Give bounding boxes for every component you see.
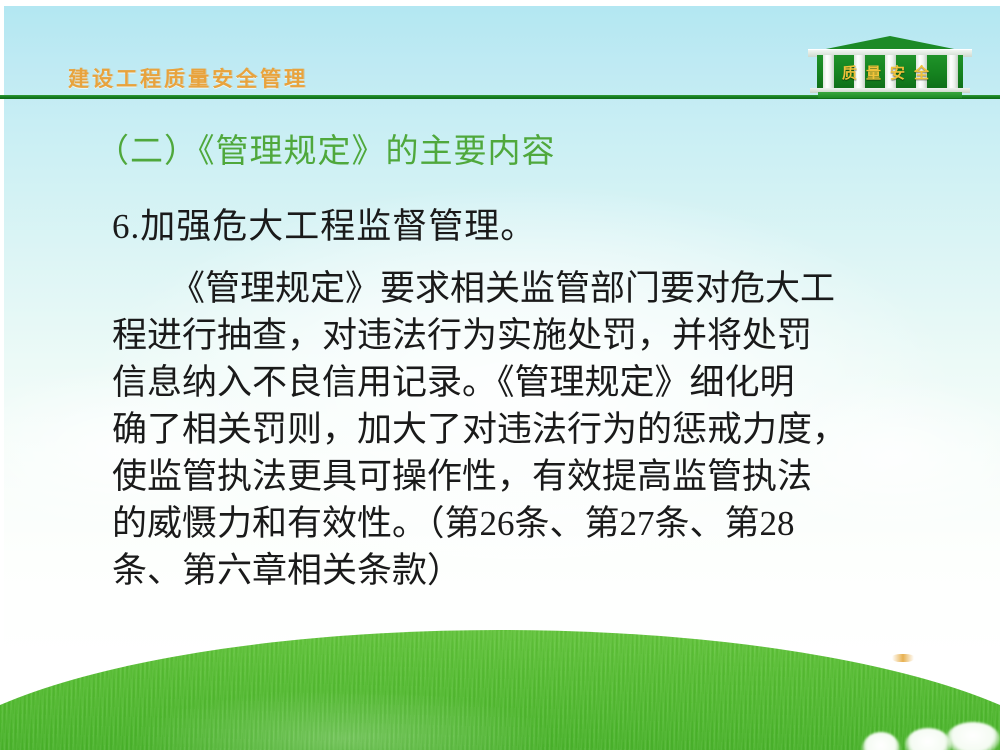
header-title: 建设工程质量安全管理 bbox=[68, 63, 308, 93]
slide-body: 6.加强危大工程监督管理。 《管理规定》要求相关监管部门要对危大工 程进行抽查，… bbox=[112, 203, 912, 594]
flower-icon bbox=[946, 722, 1000, 750]
horizon-speck-icon bbox=[892, 654, 914, 662]
presentation-slide: 建设工程质量安全管理 质量安全 （二）《管理规定》的主要内容 6.加强危大工程监… bbox=[0, 0, 1000, 750]
body-paragraph-line: 的威慑力和有效性。（第26条、第27条、第28 bbox=[112, 500, 912, 547]
body-paragraph-line: 《管理规定》要求相关监管部门要对危大工 bbox=[112, 265, 912, 312]
body-paragraph-line: 确了相关罚则，加大了对违法行为的惩戒力度， bbox=[112, 406, 912, 453]
body-paragraph-line: 程进行抽查，对违法行为实施处罚，并将处罚 bbox=[112, 312, 912, 359]
logo-base bbox=[818, 92, 962, 98]
body-paragraph-line: 条、第六章相关条款） bbox=[112, 547, 912, 594]
grass-highlight bbox=[120, 640, 680, 750]
logo-text: 质量安全 bbox=[817, 62, 963, 83]
grass-field-decoration bbox=[0, 620, 1000, 750]
body-paragraph-line: 信息纳入不良信用记录。《管理规定》细化明 bbox=[112, 359, 912, 406]
slide-header: 建设工程质量安全管理 质量安全 bbox=[0, 0, 1000, 104]
slide-section-title: （二）《管理规定》的主要内容 bbox=[96, 124, 556, 172]
quality-safety-logo: 质量安全 bbox=[806, 36, 974, 98]
body-paragraph-line: 使监管执法更具可操作性，有效提高监管执法 bbox=[112, 453, 912, 500]
body-heading: 6.加强危大工程监督管理。 bbox=[112, 203, 912, 250]
